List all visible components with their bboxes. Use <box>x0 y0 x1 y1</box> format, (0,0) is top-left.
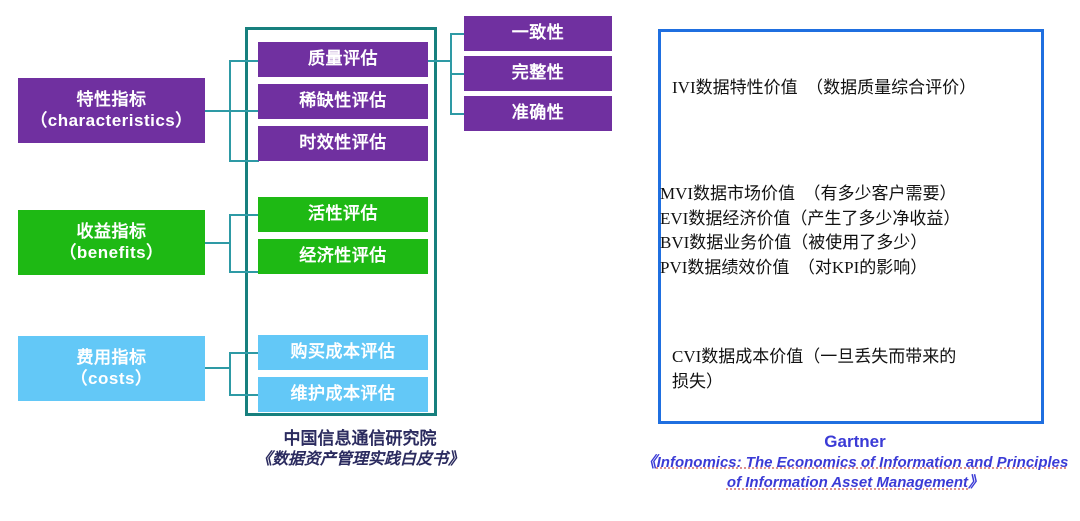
category-characteristics[interactable]: 特性指标 （characteristics） <box>18 78 205 143</box>
connector-quality-stem <box>428 60 450 62</box>
connector-characteristics-timeliness <box>229 160 259 162</box>
left-panel-caption: 中国信息通信研究院 《数据资产管理实践白皮书》 <box>180 428 540 471</box>
quality-subitem-accuracy[interactable]: 准确性 <box>464 96 612 131</box>
bracket-close: 》 <box>968 474 983 491</box>
category-costs[interactable]: 费用指标 （costs） <box>18 336 205 401</box>
assessment-timeliness[interactable]: 时效性评估 <box>258 126 428 161</box>
gartner-group-value-indices: MVI数据市场价值 （有多少客户需要） EVI数据经济价值（产生了多少净收益） … <box>660 182 1040 281</box>
assessment-purchase-cost[interactable]: 购买成本评估 <box>258 335 428 370</box>
connector-characteristics-quality <box>229 60 259 62</box>
connector-costs-purchase <box>229 352 259 354</box>
category-benefits[interactable]: 收益指标 （benefits） <box>18 210 205 275</box>
gartner-group-cvi: CVI数据成本价值（一旦丢失而带来的 损失） <box>672 345 1012 394</box>
right-caption-organization: Gartner <box>640 431 1070 453</box>
left-caption-document: 《数据资产管理实践白皮书》 <box>180 450 540 471</box>
connector-characteristics-scarcity <box>229 110 259 112</box>
assessment-scarcity[interactable]: 稀缺性评估 <box>258 84 428 119</box>
right-caption-document: 《Infonomics: The Economics of Informatio… <box>640 453 1070 494</box>
connector-benefits-economy <box>229 271 259 273</box>
right-panel-caption: Gartner 《Infonomics: The Economics of In… <box>640 431 1070 494</box>
connector-costs-maintenance <box>229 394 259 396</box>
connector-benefits-activity <box>229 214 259 216</box>
connector-costs-bus <box>229 352 231 395</box>
connector-costs-stem <box>205 367 229 369</box>
assessment-activity[interactable]: 活性评估 <box>258 197 428 232</box>
connector-characteristics-stem <box>205 110 229 112</box>
quality-subitem-consistency[interactable]: 一致性 <box>464 16 612 51</box>
quality-subitem-completeness[interactable]: 完整性 <box>464 56 612 91</box>
connector-benefits-stem <box>205 242 229 244</box>
bracket-open: 《 <box>642 454 657 471</box>
diagram-canvas: 特性指标 （characteristics） 收益指标 （benefits） 费… <box>0 0 1080 521</box>
right-caption-document-title: Infonomics: The Economics of Information… <box>657 454 1069 491</box>
left-caption-organization: 中国信息通信研究院 <box>180 428 540 450</box>
assessment-economy[interactable]: 经济性评估 <box>258 239 428 274</box>
assessment-quality[interactable]: 质量评估 <box>258 42 428 77</box>
gartner-group-ivi: IVI数据特性价值 （数据质量综合评价） <box>672 76 1034 101</box>
assessment-maintenance-cost[interactable]: 维护成本评估 <box>258 377 428 412</box>
connector-benefits-bus <box>229 214 231 272</box>
